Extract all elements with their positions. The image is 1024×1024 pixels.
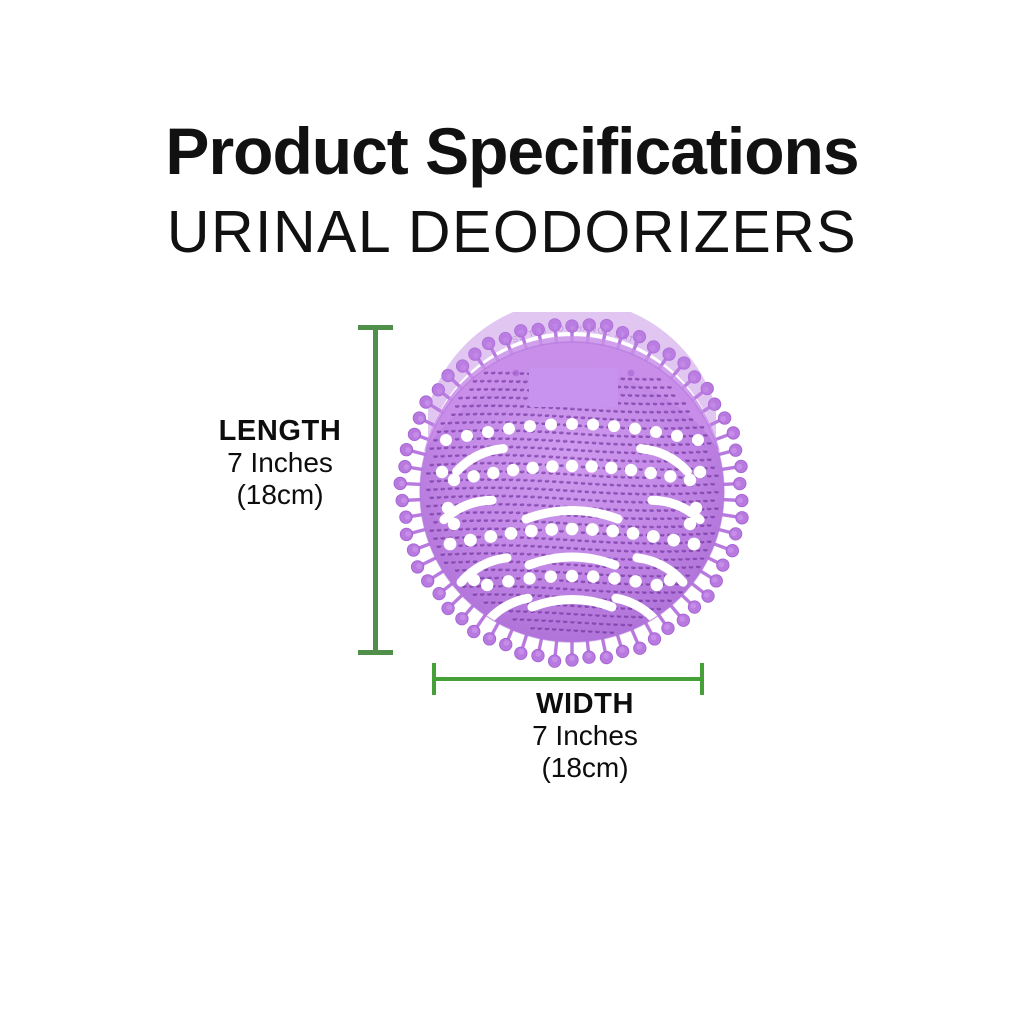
- nub-highlight: [617, 499, 621, 501]
- nub-highlight: [563, 456, 567, 458]
- nub-highlight: [459, 429, 463, 431]
- nub-highlight: [682, 418, 686, 420]
- nub-highlight: [488, 379, 492, 381]
- nub-highlight: [607, 524, 611, 526]
- nub-highlight: [671, 557, 675, 559]
- nub-highlight: [556, 586, 560, 588]
- nub-highlight: [632, 516, 636, 518]
- nub-highlight: [643, 590, 647, 592]
- nub-highlight: [668, 549, 672, 551]
- nub-highlight: [556, 537, 560, 539]
- nub-highlight: [524, 396, 528, 398]
- nub-highlight: [444, 478, 448, 480]
- nub-highlight: [452, 429, 456, 431]
- drain-hole: [545, 570, 557, 582]
- nub-highlight: [704, 466, 708, 468]
- nub-highlight: [646, 484, 650, 486]
- nub-highlight: [506, 518, 510, 520]
- nub-highlight: [516, 494, 520, 496]
- nub-highlight: [632, 549, 636, 551]
- nub-highlight: [466, 560, 470, 562]
- nub-highlight: [495, 494, 499, 496]
- nub-highlight: [599, 572, 603, 574]
- nub-highlight: [535, 585, 539, 587]
- nub-highlight: [643, 459, 647, 461]
- nub-highlight: [527, 486, 531, 488]
- nub-highlight: [643, 525, 647, 527]
- drain-hole: [644, 467, 656, 479]
- nub-highlight: [542, 520, 546, 522]
- nub-highlight: [617, 467, 621, 469]
- nub-highlight: [657, 394, 661, 396]
- bristle-highlight: [738, 515, 744, 521]
- nub-highlight: [441, 454, 445, 456]
- nub-highlight: [585, 621, 589, 623]
- drain-hole: [467, 470, 479, 482]
- nub-highlight: [502, 379, 506, 381]
- nub-highlight: [448, 421, 452, 423]
- nub-highlight: [671, 393, 675, 395]
- nub-highlight: [664, 541, 668, 543]
- nub-highlight: [639, 516, 643, 518]
- nub-highlight: [434, 504, 438, 506]
- nub-highlight: [527, 585, 531, 587]
- nub-highlight: [643, 574, 647, 576]
- nub-highlight: [624, 418, 628, 420]
- drain-hole: [688, 538, 701, 551]
- nub-highlight: [617, 450, 621, 452]
- drain-hole: [608, 420, 620, 432]
- nub-highlight: [556, 488, 560, 490]
- nub-highlight: [643, 443, 647, 445]
- nub-highlight: [664, 492, 668, 494]
- nub-highlight: [542, 585, 546, 587]
- nub-highlight: [535, 454, 539, 456]
- nub-highlight: [650, 574, 654, 576]
- nub-highlight: [463, 568, 467, 570]
- nub-highlight: [560, 611, 564, 613]
- nub-highlight: [614, 557, 618, 559]
- nub-highlight: [480, 445, 484, 447]
- length-value-imperial: 7 Inches: [130, 447, 430, 478]
- nub-highlight: [520, 502, 524, 504]
- nub-highlight: [632, 418, 636, 420]
- nub-highlight: [491, 387, 495, 389]
- nub-highlight: [509, 461, 513, 463]
- nub-highlight: [455, 421, 459, 423]
- bristle-highlight: [399, 481, 405, 487]
- nub-highlight: [671, 492, 675, 494]
- nub-highlight: [621, 409, 625, 411]
- nub-highlight: [700, 540, 704, 542]
- nub-highlight: [660, 402, 664, 404]
- nub-highlight: [599, 622, 603, 624]
- drain-hole: [461, 430, 473, 442]
- nub-highlight: [524, 380, 528, 382]
- nub-highlight: [484, 600, 488, 602]
- nub-highlight: [660, 418, 664, 420]
- nub-highlight: [549, 504, 553, 506]
- drain-hole: [468, 574, 480, 586]
- nub-highlight: [621, 459, 625, 461]
- nub-highlight: [499, 486, 503, 488]
- nub-highlight: [538, 528, 542, 530]
- nub-highlight: [682, 450, 686, 452]
- nub-highlight: [578, 588, 582, 590]
- nub-highlight: [567, 628, 571, 630]
- nub-highlight: [646, 385, 650, 387]
- nub-highlight: [495, 461, 499, 463]
- nub-highlight: [660, 549, 664, 551]
- nub-highlight: [679, 590, 683, 592]
- nub-highlight: [502, 395, 506, 397]
- drain-hole: [625, 464, 637, 476]
- drain-hole: [692, 434, 704, 446]
- bristle-highlight: [664, 624, 670, 630]
- nub-highlight: [632, 401, 636, 403]
- nub-highlight: [542, 454, 546, 456]
- nub-highlight: [660, 467, 664, 469]
- nub-highlight: [448, 552, 452, 554]
- nub-highlight: [614, 507, 618, 509]
- nub-highlight: [657, 492, 661, 494]
- nub-highlight: [549, 455, 553, 457]
- nub-highlight: [610, 417, 614, 419]
- nub-highlight: [592, 441, 596, 443]
- drain-hole: [651, 579, 663, 591]
- nub-highlight: [603, 581, 607, 583]
- nub-highlight: [480, 592, 484, 594]
- nub-highlight: [571, 472, 575, 474]
- nub-highlight: [704, 482, 708, 484]
- nub-highlight: [480, 543, 484, 545]
- nub-highlight: [621, 508, 625, 510]
- nub-highlight: [650, 492, 654, 494]
- nub-highlight: [495, 510, 499, 512]
- nub-highlight: [607, 573, 611, 575]
- nub-highlight: [682, 516, 686, 518]
- nub-highlight: [653, 484, 657, 486]
- nub-highlight: [588, 564, 592, 566]
- nub-highlight: [581, 416, 585, 418]
- nub-highlight: [531, 626, 535, 628]
- nub-highlight: [675, 483, 679, 485]
- nub-highlight: [535, 552, 539, 554]
- nub-highlight: [463, 453, 467, 455]
- nub-highlight: [585, 588, 589, 590]
- nub-highlight: [696, 565, 700, 567]
- nub-highlight: [459, 396, 463, 398]
- nub-highlight: [473, 379, 477, 381]
- nub-highlight: [437, 495, 441, 497]
- nub-highlight: [668, 418, 672, 420]
- nub-highlight: [715, 490, 719, 492]
- nub-highlight: [488, 592, 492, 594]
- drain-hole: [484, 530, 497, 543]
- nub-highlight: [516, 609, 520, 611]
- nub-highlight: [524, 462, 528, 464]
- nub-highlight: [715, 473, 719, 475]
- nub-highlight: [621, 573, 625, 575]
- nub-highlight: [571, 489, 575, 491]
- nub-highlight: [585, 539, 589, 541]
- nub-highlight: [592, 408, 596, 410]
- nub-highlight: [614, 409, 618, 411]
- nub-highlight: [491, 371, 495, 373]
- nub-highlight: [686, 458, 690, 460]
- nub-highlight: [535, 536, 539, 538]
- nub-highlight: [581, 563, 585, 565]
- nub-highlight: [434, 520, 438, 522]
- nub-highlight: [675, 401, 679, 403]
- nub-highlight: [509, 445, 513, 447]
- nub-highlight: [603, 597, 607, 599]
- nub-highlight: [441, 421, 445, 423]
- nub-highlight: [664, 508, 668, 510]
- nub-highlight: [675, 418, 679, 420]
- nub-highlight: [650, 590, 654, 592]
- nub-highlight: [603, 417, 607, 419]
- nub-highlight: [563, 620, 567, 622]
- nub-highlight: [696, 450, 700, 452]
- nub-highlight: [632, 483, 636, 485]
- nub-highlight: [506, 453, 510, 455]
- drain-hole: [664, 470, 676, 482]
- nub-highlight: [639, 549, 643, 551]
- nub-highlight: [488, 527, 492, 529]
- nub-highlight: [531, 446, 535, 448]
- length-callout: LENGTH 7 Inches (18cm): [130, 415, 430, 510]
- nub-highlight: [509, 510, 513, 512]
- nub-highlight: [646, 549, 650, 551]
- nub-highlight: [657, 607, 661, 609]
- nub-highlight: [509, 592, 513, 594]
- nub-highlight: [707, 523, 711, 525]
- drain-hole: [444, 538, 457, 551]
- nub-highlight: [653, 418, 657, 420]
- nub-highlight: [610, 614, 614, 616]
- nub-highlight: [639, 385, 643, 387]
- bristle-highlight: [401, 498, 407, 504]
- nub-highlight: [444, 495, 448, 497]
- nub-highlight: [513, 453, 517, 455]
- nub-highlight: [484, 420, 488, 422]
- nub-highlight: [588, 613, 592, 615]
- nub-highlight: [499, 420, 503, 422]
- nub-highlight: [477, 436, 481, 438]
- nub-highlight: [473, 412, 477, 414]
- nub-highlight: [527, 437, 531, 439]
- nub-highlight: [466, 527, 470, 529]
- nub-highlight: [542, 487, 546, 489]
- drain-hole: [503, 423, 515, 435]
- nub-highlight: [571, 456, 575, 458]
- drain-hole: [524, 420, 536, 432]
- nub-highlight: [650, 410, 654, 412]
- nub-highlight: [556, 439, 560, 441]
- nub-highlight: [624, 500, 628, 502]
- nub-highlight: [520, 470, 524, 472]
- nub-highlight: [679, 410, 683, 412]
- nub-highlight: [660, 533, 664, 535]
- bristle-highlight: [712, 577, 718, 583]
- nub-highlight: [545, 545, 549, 547]
- nub-highlight: [686, 426, 690, 428]
- nub-highlight: [624, 483, 628, 485]
- nub-highlight: [671, 410, 675, 412]
- nub-highlight: [628, 508, 632, 510]
- nub-highlight: [621, 442, 625, 444]
- nub-highlight: [664, 426, 668, 428]
- drain-hole: [464, 534, 477, 547]
- bristle-highlight: [405, 531, 411, 537]
- drain-hole: [442, 502, 454, 514]
- nub-highlight: [520, 486, 524, 488]
- nub-highlight: [682, 401, 686, 403]
- nub-highlight: [535, 437, 539, 439]
- nub-highlight: [581, 629, 585, 631]
- nub-highlight: [459, 412, 463, 414]
- drain-hole: [629, 423, 641, 435]
- nub-highlight: [560, 463, 564, 465]
- nub-highlight: [506, 404, 510, 406]
- nub-highlight: [599, 441, 603, 443]
- nub-highlight: [628, 377, 632, 379]
- bristle-highlight: [426, 577, 432, 583]
- nub-highlight: [585, 522, 589, 524]
- nub-highlight: [499, 600, 503, 602]
- nub-highlight: [437, 544, 441, 546]
- nub-highlight: [578, 538, 582, 540]
- nub-highlight: [621, 623, 625, 625]
- nub-highlight: [455, 568, 459, 570]
- nub-highlight: [470, 519, 474, 521]
- nub-highlight: [545, 610, 549, 612]
- nub-highlight: [610, 630, 614, 632]
- nub-highlight: [592, 539, 596, 541]
- nub-highlight: [668, 434, 672, 436]
- nub-highlight: [549, 438, 553, 440]
- drain-hole: [448, 474, 460, 486]
- nub-highlight: [552, 430, 556, 432]
- nub-highlight: [599, 507, 603, 509]
- nub-highlight: [538, 446, 542, 448]
- nub-highlight: [477, 535, 481, 537]
- nub-highlight: [502, 494, 506, 496]
- nub-highlight: [628, 393, 632, 395]
- nub-highlight: [588, 547, 592, 549]
- nub-highlight: [556, 504, 560, 506]
- nub-highlight: [599, 523, 603, 525]
- nub-highlight: [650, 508, 654, 510]
- nub-highlight: [607, 474, 611, 476]
- nub-highlight: [610, 483, 614, 485]
- nub-highlight: [682, 565, 686, 567]
- nub-highlight: [563, 587, 567, 589]
- nub-highlight: [588, 498, 592, 500]
- nub-highlight: [495, 379, 499, 381]
- nub-highlight: [463, 486, 467, 488]
- nub-highlight: [488, 412, 492, 414]
- nub-highlight: [459, 543, 463, 545]
- nub-highlight: [560, 480, 564, 482]
- width-value-imperial: 7 Inches: [440, 720, 730, 751]
- nub-highlight: [610, 548, 614, 550]
- nub-highlight: [495, 412, 499, 414]
- nub-highlight: [578, 522, 582, 524]
- nub-highlight: [444, 429, 448, 431]
- nub-highlight: [585, 440, 589, 442]
- nub-highlight: [437, 430, 441, 432]
- nub-highlight: [632, 615, 636, 617]
- nub-highlight: [524, 412, 528, 414]
- nub-highlight: [463, 552, 467, 554]
- nub-highlight: [563, 538, 567, 540]
- bristle-highlight: [472, 627, 478, 633]
- nub-highlight: [621, 524, 625, 526]
- nub-highlight: [434, 487, 438, 489]
- nub-highlight: [452, 412, 456, 414]
- nub-highlight: [509, 478, 513, 480]
- nub-highlight: [434, 454, 438, 456]
- nub-highlight: [693, 557, 697, 559]
- nub-highlight: [664, 590, 668, 592]
- nub-highlight: [556, 570, 560, 572]
- nub-highlight: [473, 527, 477, 529]
- bristle-highlight: [704, 592, 710, 598]
- nub-highlight: [707, 457, 711, 459]
- nub-highlight: [635, 541, 639, 543]
- nub-highlight: [617, 483, 621, 485]
- nub-highlight: [643, 377, 647, 379]
- nub-highlight: [513, 502, 517, 504]
- nub-highlight: [632, 565, 636, 567]
- nub-highlight: [430, 446, 434, 448]
- nub-highlight: [621, 393, 625, 395]
- nub-highlight: [516, 379, 520, 381]
- nub-highlight: [513, 404, 517, 406]
- bristle-highlight: [418, 416, 424, 422]
- nub-highlight: [628, 492, 632, 494]
- length-value-metric: (18cm): [130, 479, 430, 510]
- nub-highlight: [639, 434, 643, 436]
- nub-highlight: [581, 612, 585, 614]
- drain-hole: [523, 572, 535, 584]
- drain-hole: [507, 464, 519, 476]
- nub-highlight: [682, 532, 686, 534]
- nub-highlight: [480, 494, 484, 496]
- nub-highlight: [495, 428, 499, 430]
- nub-highlight: [578, 620, 582, 622]
- nub-highlight: [581, 498, 585, 500]
- nub-highlight: [603, 532, 607, 534]
- nub-highlight: [538, 610, 542, 612]
- nub-highlight: [639, 615, 643, 617]
- nub-highlight: [599, 589, 603, 591]
- nub-highlight: [599, 474, 603, 476]
- nub-highlight: [614, 622, 618, 624]
- nub-highlight: [563, 439, 567, 441]
- nub-highlight: [452, 494, 456, 496]
- nub-highlight: [635, 508, 639, 510]
- nub-highlight: [473, 445, 477, 447]
- nub-highlight: [520, 388, 524, 390]
- nub-highlight: [444, 462, 448, 464]
- drain-hole: [587, 419, 599, 431]
- nub-highlight: [463, 404, 467, 406]
- nub-highlight: [552, 479, 556, 481]
- nub-highlight: [538, 462, 542, 464]
